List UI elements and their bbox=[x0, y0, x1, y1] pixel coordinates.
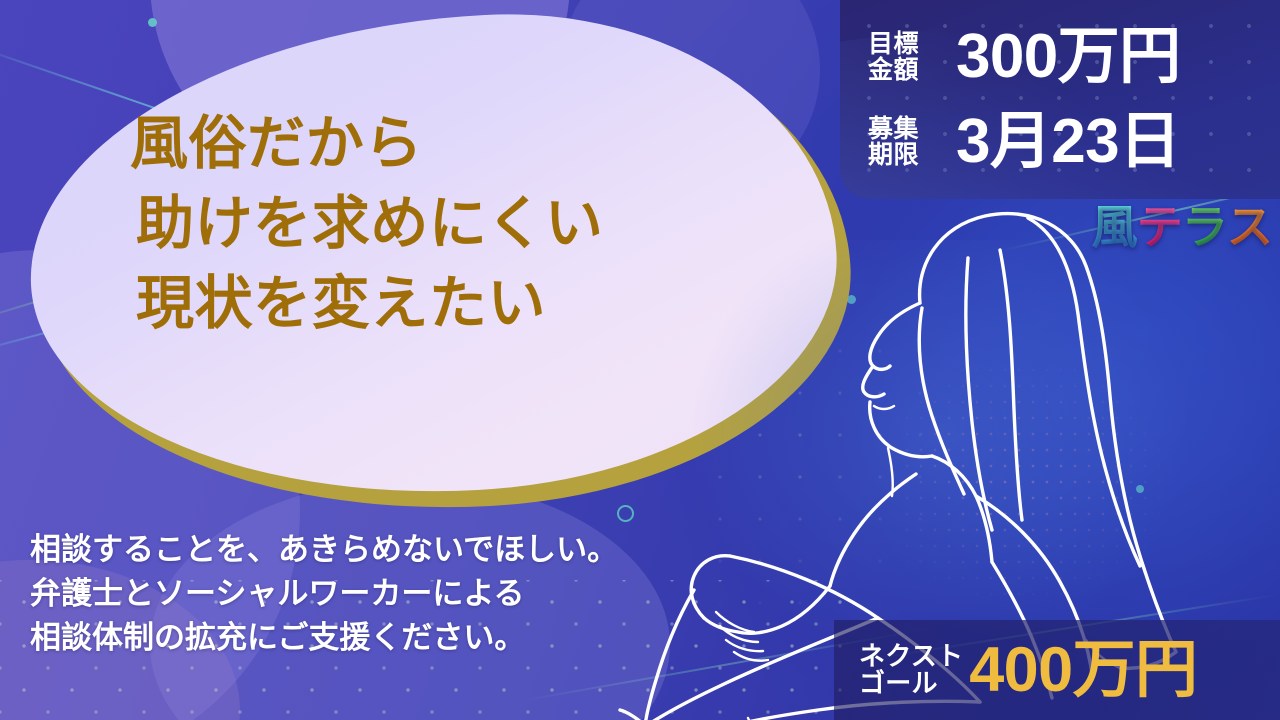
logo-char-3: ラ bbox=[1182, 204, 1227, 250]
goal-amount-label: 目標 金額 bbox=[868, 31, 940, 83]
deadline-value: 3月23日 bbox=[956, 111, 1180, 173]
goal-amount-label-top: 目標 bbox=[868, 31, 940, 57]
info-row-goal-amount: 目標 金額 300万円 bbox=[868, 14, 1272, 99]
logo-char-4: ス bbox=[1227, 204, 1272, 250]
support-message: 相談することを、あきらめないでほしい。 弁護士とソーシャルワーカーによる 相談体… bbox=[30, 528, 770, 660]
subcopy-line-1: 相談することを、あきらめないでほしい。 bbox=[30, 528, 770, 572]
logo-char-1: 風 bbox=[1092, 204, 1137, 250]
kaze-terrace-logo-icon: 風テラス bbox=[1092, 204, 1272, 250]
subcopy-line-3: 相談体制の拡充にご支援ください。 bbox=[30, 616, 770, 660]
subcopy-line-2: 弁護士とソーシャルワーカーによる bbox=[30, 572, 770, 616]
next-goal-label-top: ネクスト bbox=[859, 643, 963, 670]
campaign-banner: 風俗だから 助けを求めにくい 現状を変えたい bbox=[0, 0, 1280, 720]
next-goal-value: 400万円 bbox=[969, 639, 1197, 702]
campaign-info-panel: 目標 金額 300万円 募集 期限 3月23日 bbox=[840, 0, 1280, 199]
deadline-label-top: 募集 bbox=[868, 116, 940, 142]
next-goal-label: ネクスト ゴール bbox=[859, 643, 963, 698]
goal-amount-value: 300万円 bbox=[956, 26, 1180, 88]
logo-char-2: テ bbox=[1137, 204, 1182, 250]
deadline-label-bottom: 期限 bbox=[868, 142, 940, 168]
next-goal-panel: ネクスト ゴール 400万円 bbox=[834, 620, 1280, 720]
goal-amount-label-bottom: 金額 bbox=[868, 57, 940, 83]
deadline-label: 募集 期限 bbox=[868, 116, 940, 168]
info-row-deadline: 募集 期限 3月23日 bbox=[868, 99, 1272, 184]
headline-line-1: 風俗だから bbox=[130, 104, 790, 184]
next-goal-label-bottom: ゴール bbox=[859, 670, 963, 697]
